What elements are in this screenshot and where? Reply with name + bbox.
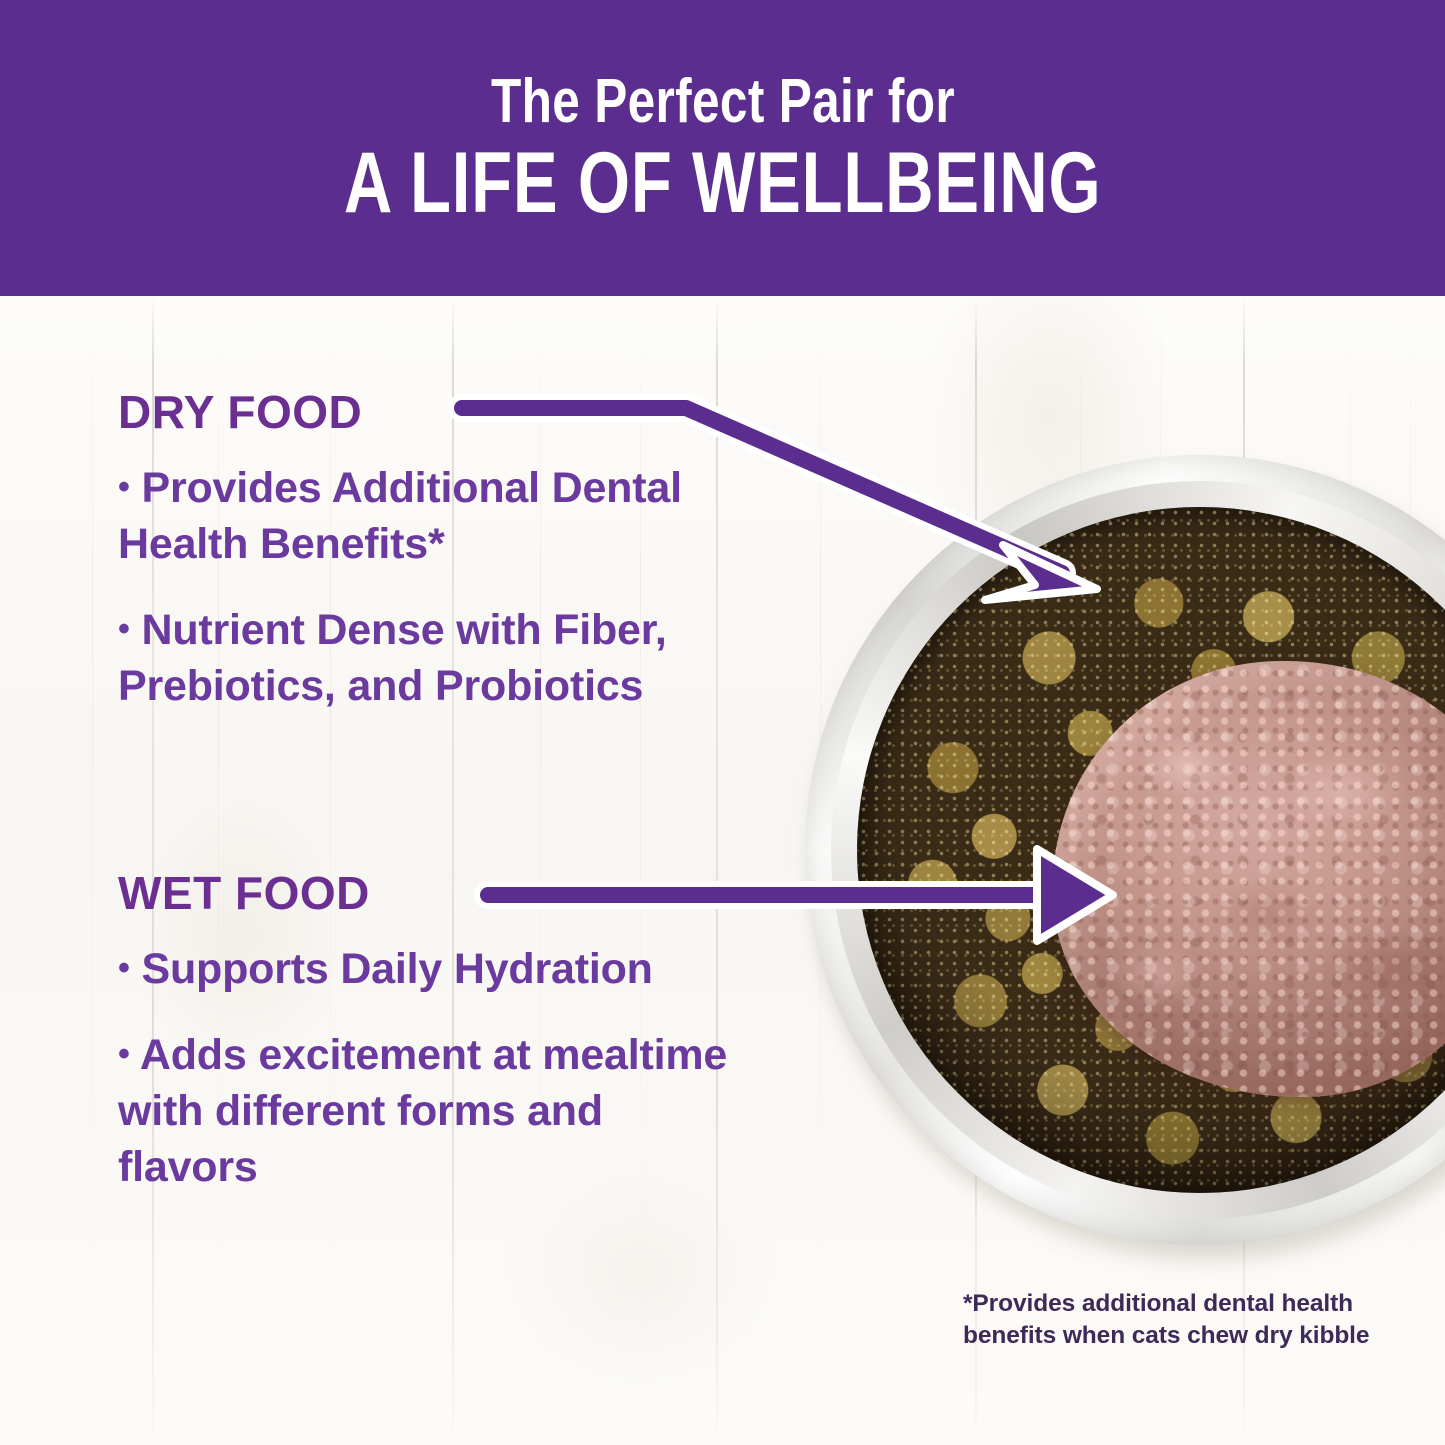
wet-food-bullet-1: • Supports Daily Hydration <box>118 942 748 998</box>
wet-food-heading: WET FOOD <box>118 866 748 920</box>
dry-food-section: DRY FOOD • Provides Additional Dental He… <box>118 385 748 715</box>
dry-food-bullet-1: • Provides Additional Dental Health Bene… <box>118 461 748 573</box>
header-banner: The Perfect Pair for A LIFE OF WELLBEING <box>0 0 1445 296</box>
pate-highlights <box>1053 661 1445 1097</box>
footnote-disclaimer: *Provides additional dental health benef… <box>963 1288 1393 1353</box>
dry-food-bullet-1-text: Provides Additional Dental Health Benefi… <box>118 464 682 568</box>
wet-food-pate <box>1053 661 1445 1097</box>
pet-food-bowl-image <box>805 455 1445 1255</box>
wet-food-bullet-2-text: Adds excitement at mealtime with differe… <box>118 1031 727 1191</box>
wet-food-bullet-2: • Adds excitement at mealtime with diffe… <box>118 1028 748 1196</box>
banner-title-line-2: A LIFE OF WELLBEING <box>344 140 1102 226</box>
infographic-canvas: The Perfect Pair for A LIFE OF WELLBEING… <box>0 0 1445 1445</box>
wet-food-section: WET FOOD • Supports Daily Hydration • Ad… <box>118 866 748 1196</box>
dry-food-bullet-2: • Nutrient Dense with Fiber, Prebiotics,… <box>118 603 748 715</box>
dry-food-heading: DRY FOOD <box>118 385 748 439</box>
banner-title-line-1: The Perfect Pair for <box>491 70 955 133</box>
wood-grain-streak <box>92 296 93 1445</box>
wet-food-bullet-1-text: Supports Daily Hydration <box>141 945 652 993</box>
dry-food-bullet-2-text: Nutrient Dense with Fiber, Prebiotics, a… <box>118 606 667 710</box>
